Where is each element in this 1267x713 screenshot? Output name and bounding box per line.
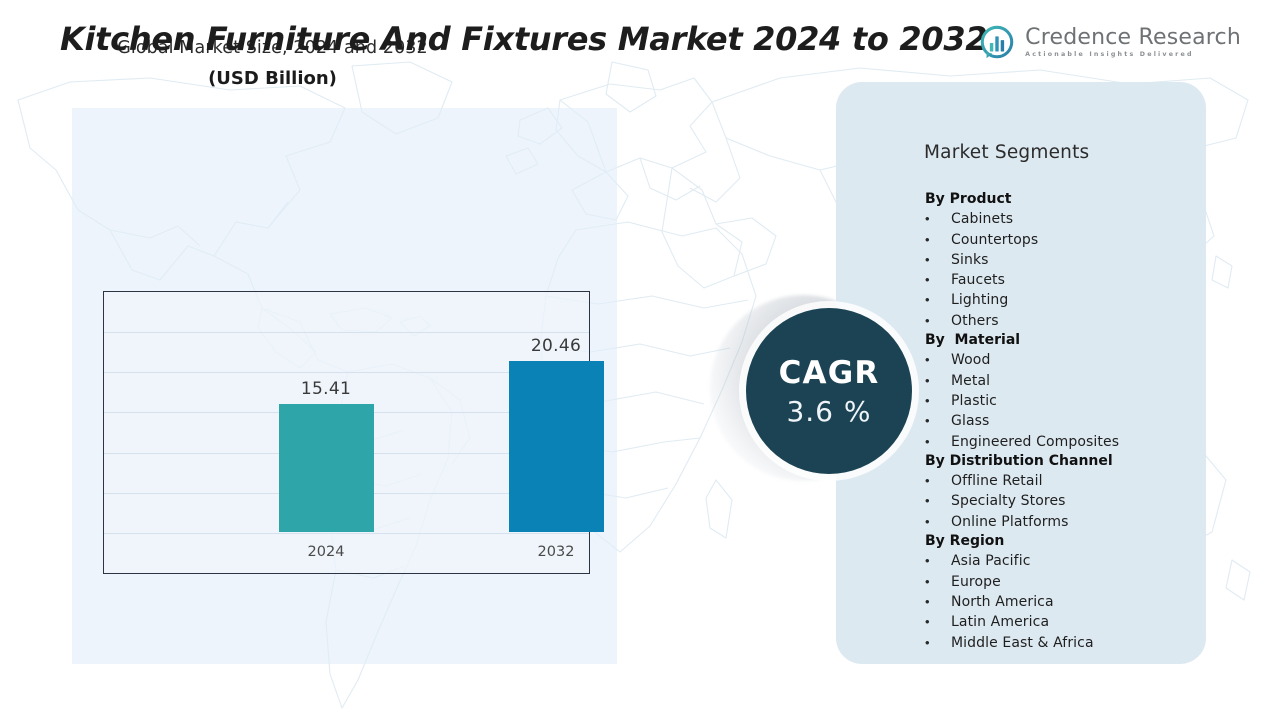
bullet-icon: • [925,411,951,430]
bullet-icon: • [925,209,951,228]
cagr-badge: CAGR 3.6 % [746,308,912,474]
segment-item-label: Others [951,312,999,331]
segments-list: By Product•Cabinets•Countertops•Sinks•Fa… [925,190,1205,653]
segment-item-label: Metal [951,372,990,391]
bullet-icon: • [925,290,951,309]
segment-group-title: By Material [925,331,1205,350]
segment-item: •Engineered Composites [925,432,1205,452]
segment-item: •Cabinets [925,209,1205,229]
segment-item: •Middle East & Africa [925,633,1205,653]
bullet-icon: • [925,311,951,330]
segment-item-label: Online Platforms [951,513,1069,532]
segment-item-label: Middle East & Africa [951,634,1094,653]
cagr-value: 3.6 % [786,395,871,428]
bullet-icon: • [925,551,951,570]
segment-item: •Faucets [925,270,1205,290]
segment-item-label: Offline Retail [951,472,1043,491]
bullet-icon: • [925,612,951,631]
gridline [104,533,589,534]
cagr-label: CAGR [779,355,880,391]
bullet-icon: • [925,350,951,369]
bar-group[interactable]: 20.462032 [509,336,604,532]
bar-value-label: 20.46 [531,336,581,356]
segment-item-label: Glass [951,412,989,431]
segments-heading: Market Segments [924,142,1089,163]
infographic-canvas: Kitchen Furniture And Fixtures Market 20… [0,0,1267,713]
brand-logo: Credence Research Actionable Insights De… [978,24,1241,62]
segment-item-label: Specialty Stores [951,492,1066,511]
segment-item: •Asia Pacific [925,551,1205,571]
segment-item-label: Wood [951,351,990,370]
segment-item-label: Countertops [951,231,1038,250]
segment-item: •Plastic [925,391,1205,411]
segment-item-label: Faucets [951,271,1005,290]
segment-item-label: Plastic [951,392,997,411]
segment-item: •Lighting [925,290,1205,310]
segment-item: •North America [925,592,1205,612]
bar-chart-circle-icon [978,24,1016,62]
segment-item: •Others [925,311,1205,331]
segment-item: •Latin America [925,612,1205,632]
bullet-icon: • [925,432,951,451]
bullet-icon: • [925,592,951,611]
bar-category-label: 2024 [308,544,345,560]
brand-text: Credence Research Actionable Insights De… [1025,27,1241,58]
segment-group-title: By Product [925,190,1205,209]
segment-item: •Online Platforms [925,512,1205,532]
bar-category-label: 2032 [538,544,575,560]
bullet-icon: • [925,391,951,410]
bar-chart-plot: 15.41202420.462032 [103,291,590,574]
segment-item: •Wood [925,350,1205,370]
bullet-icon: • [925,250,951,269]
bar-rect[interactable] [279,404,374,532]
segment-item-label: Asia Pacific [951,552,1031,571]
header: Kitchen Furniture And Fixtures Market 20… [0,0,1267,78]
segment-item: •Metal [925,371,1205,391]
segment-item: •Europe [925,572,1205,592]
bullet-icon: • [925,512,951,531]
bar-series: 15.41202420.462032 [104,332,591,532]
bar-rect[interactable] [509,361,604,532]
segment-item: •Sinks [925,250,1205,270]
segment-item-label: North America [951,593,1054,612]
segment-item-label: Lighting [951,291,1008,310]
segment-item-label: Cabinets [951,210,1013,229]
segment-item: •Countertops [925,230,1205,250]
bullet-icon: • [925,633,951,652]
bullet-icon: • [925,491,951,510]
bullet-icon: • [925,270,951,289]
brand-name: Credence Research [1025,27,1241,49]
bar-value-label: 15.41 [301,379,351,399]
brand-tagline: Actionable Insights Delivered [1025,52,1241,58]
segment-item: •Offline Retail [925,471,1205,491]
segment-item-label: Engineered Composites [951,433,1119,452]
segment-item: •Specialty Stores [925,491,1205,511]
bullet-icon: • [925,471,951,490]
bullet-icon: • [925,230,951,249]
segment-item-label: Sinks [951,251,989,270]
bullet-icon: • [925,572,951,591]
segment-group-title: By Region [925,532,1205,551]
segment-group-title: By Distribution Channel [925,452,1205,471]
segment-item-label: Latin America [951,613,1049,632]
bar-group[interactable]: 15.412024 [279,379,374,532]
segment-item: •Glass [925,411,1205,431]
bullet-icon: • [925,371,951,390]
segment-item-label: Europe [951,573,1001,592]
page-title: Kitchen Furniture And Fixtures Market 20… [60,20,987,58]
